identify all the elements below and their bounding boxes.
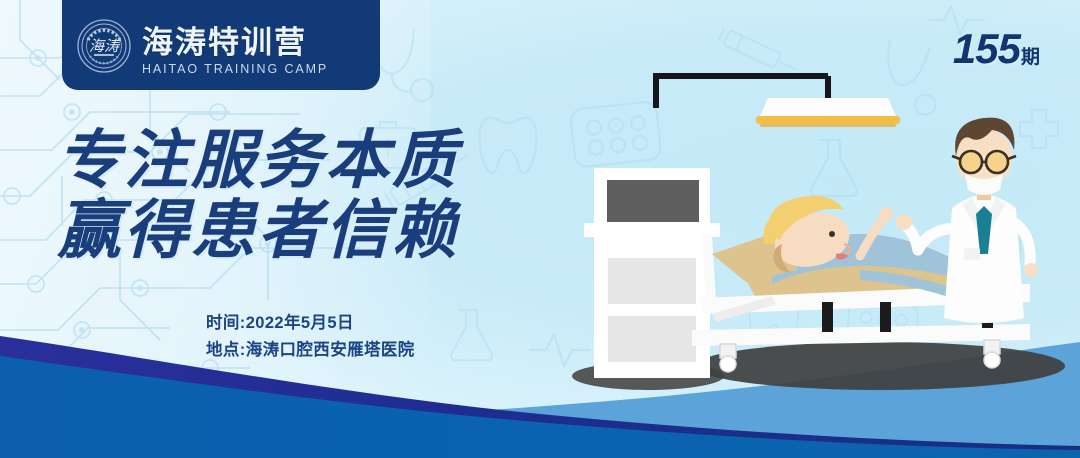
headline-block: 专注服务本质 赢得患者信赖: [57, 128, 577, 264]
brand-banner: 海涛 海涛特训营 HAITAO TRAINING CAMP: [62, 0, 380, 90]
circular-seal-emblem: 海涛: [76, 18, 132, 74]
clinic-illustration: [560, 58, 1080, 398]
bed-shadow: [695, 342, 1065, 390]
monitor-screen-icon: [607, 180, 699, 222]
poster-canvas: 海涛 海涛特训营 HAITAO TRAINING CAMP 155 期 专注服务…: [0, 0, 1080, 458]
headline-line-2: 赢得患者信赖: [57, 198, 577, 264]
brand-name-en: HAITAO TRAINING CAMP: [142, 62, 328, 76]
event-place: 地点:海涛口腔西安雁塔医院: [206, 337, 415, 364]
svg-text:海涛: 海涛: [89, 38, 121, 55]
event-time: 时间:2022年5月5日: [206, 310, 415, 337]
brand-name-cn: 海涛特训营: [142, 27, 328, 59]
surgical-lamp-icon: [656, 76, 900, 127]
headline-line-1: 专注服务本质: [57, 128, 577, 194]
issue-badge: 155 期: [953, 28, 1040, 70]
issue-number: 155: [953, 28, 1020, 70]
event-meta: 时间:2022年5月5日 地点:海涛口腔西安雁塔医院: [206, 310, 415, 363]
medical-equipment-cart-icon: [584, 168, 720, 378]
issue-unit: 期: [1021, 48, 1040, 70]
